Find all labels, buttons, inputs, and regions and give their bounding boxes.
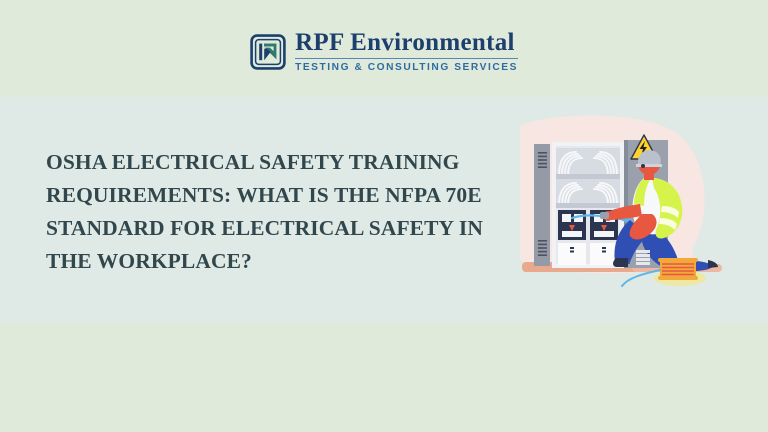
background-band-bottom — [0, 323, 768, 432]
cable-bundles — [556, 148, 620, 208]
brand-name: RPF Environmental — [295, 30, 518, 56]
electrician-illustration-svg — [512, 108, 760, 308]
boot-back — [613, 258, 628, 267]
site-logo[interactable]: RPF Environmental TESTING & CONSULTING S… — [0, 30, 768, 74]
page-title: OSHA ELECTRICAL SAFETY TRAINING REQUIREM… — [46, 146, 498, 278]
hero-illustration — [512, 108, 760, 308]
boot-front — [708, 260, 718, 268]
rpf-monogram-icon — [250, 34, 286, 70]
eye — [641, 164, 645, 168]
brand-tagline: TESTING & CONSULTING SERVICES — [295, 62, 518, 74]
logo-row: RPF Environmental TESTING & CONSULTING S… — [250, 30, 518, 74]
logo-divider — [295, 58, 518, 59]
page-root: RPF Environmental TESTING & CONSULTING S… — [0, 0, 768, 432]
tool — [600, 212, 609, 219]
logo-text-block: RPF Environmental TESTING & CONSULTING S… — [295, 30, 518, 74]
